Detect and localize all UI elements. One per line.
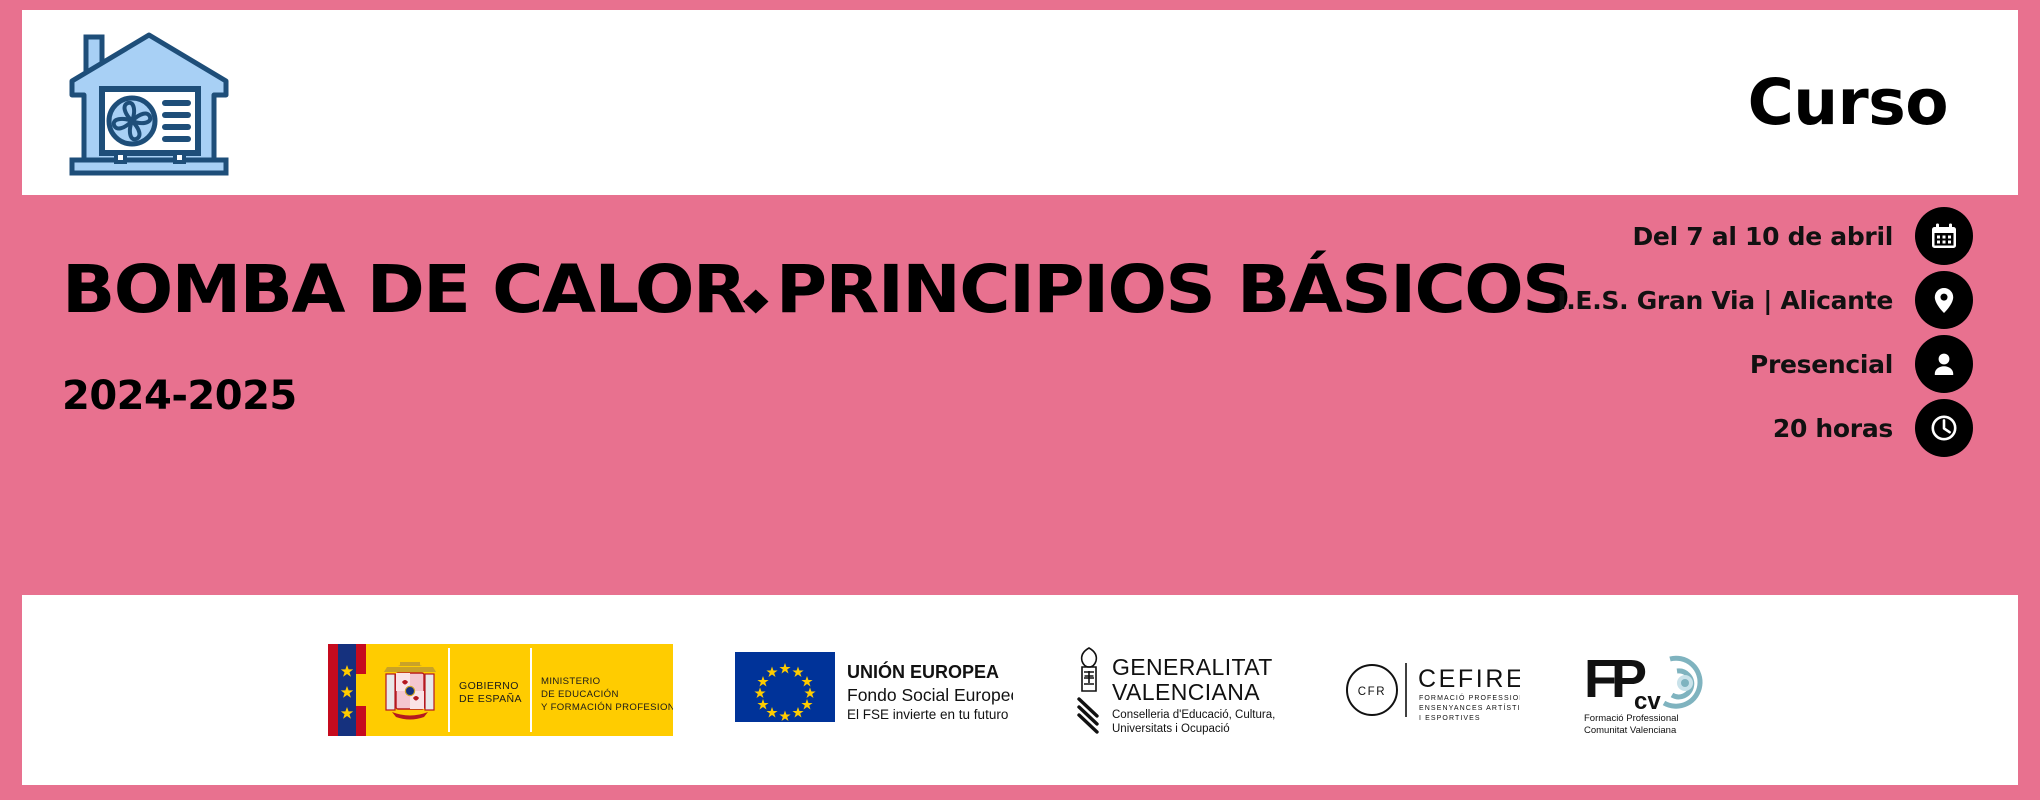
- svg-text:Formació Professional: Formació Professional: [1584, 713, 1679, 724]
- diamond-separator-icon: [744, 289, 769, 313]
- info-label-dates: Del 7 al 10 de abril: [1632, 222, 1893, 251]
- course-year: 2024-2025: [62, 373, 297, 419]
- clock-icon: [1915, 399, 1973, 457]
- course-info-list: Del 7 al 10 de abril: [1557, 207, 1973, 457]
- info-label-location: I.E.S. Gran Via | Alicante: [1557, 286, 1893, 315]
- course-title-part2: PRINCIPIOS BÁSICOS: [776, 251, 1571, 328]
- calendar-icon: [1915, 207, 1973, 265]
- header-band: Curso: [22, 10, 2018, 195]
- svg-text:DE ESPAÑA: DE ESPAÑA: [459, 692, 522, 705]
- svg-text:CEFIRE: CEFIRE: [1418, 665, 1520, 693]
- page-title: BOMBA DE CALORPRINCIPIOS BÁSICOS: [62, 255, 1546, 324]
- svg-text:VALENCIANA: VALENCIANA: [1112, 679, 1260, 705]
- info-label-modality: Presencial: [1750, 350, 1893, 379]
- svg-text:ENSENYANCES ARTÍSTIQUES: ENSENYANCES ARTÍSTIQUES: [1419, 703, 1520, 712]
- svg-text:CFR: CFR: [1358, 686, 1386, 698]
- cefire-logo: CFR CEFIRE FORMACIÓ PROFESSIONAL ENSENYA…: [1342, 653, 1520, 727]
- svg-text:MINISTERIO: MINISTERIO: [541, 676, 600, 687]
- main-band: BOMBA DE CALORPRINCIPIOS BÁSICOS 2024-20…: [22, 195, 2018, 595]
- svg-text:UNIÓN EUROPEA: UNIÓN EUROPEA: [847, 661, 999, 682]
- svg-text:GOBIERNO: GOBIERNO: [459, 680, 519, 692]
- map-pin-icon: [1915, 271, 1973, 329]
- svg-text:Conselleria d'Educació, Cultur: Conselleria d'Educació, Cultura,: [1112, 709, 1275, 721]
- svg-text:Y FORMACIÓN PROFESIONAL: Y FORMACIÓN PROFESIONAL: [541, 702, 673, 713]
- course-poster: Curso BOMBA DE CALORPRINCIPIOS BÁSICOS 2…: [0, 0, 2040, 800]
- svg-text:cv: cv: [1634, 688, 1661, 715]
- gobierno-de-espana-logo: GOBIERNO DE ESPAÑA MINISTERIO DE EDUCACI…: [328, 644, 673, 736]
- generalitat-valenciana-logo: GENERALITAT VALENCIANA Conselleria d'Edu…: [1075, 644, 1280, 736]
- header-kicker: Curso: [1748, 71, 1948, 134]
- course-title-part1: BOMBA DE CALOR: [62, 251, 745, 328]
- info-row-dates: Del 7 al 10 de abril: [1557, 207, 1973, 265]
- info-row-modality: Presencial: [1557, 335, 1973, 393]
- footer-logo-band: GOBIERNO DE ESPAÑA MINISTERIO DE EDUCACI…: [22, 595, 2018, 785]
- title-block: BOMBA DE CALORPRINCIPIOS BÁSICOS: [62, 255, 1462, 324]
- fpcv-logo: FP cv Formació Professional Comunitat Va…: [1582, 645, 1712, 735]
- svg-text:Comunitat Valenciana: Comunitat Valenciana: [1584, 725, 1677, 735]
- info-row-duration: 20 horas: [1557, 399, 1973, 457]
- info-row-location: I.E.S. Gran Via | Alicante: [1557, 271, 1973, 329]
- svg-text:GENERALITAT: GENERALITAT: [1112, 654, 1273, 680]
- heat-pump-house-logo: [64, 23, 234, 183]
- svg-text:Universitats i Ocupació: Universitats i Ocupació: [1112, 723, 1230, 735]
- union-europea-logo: UNIÓN EUROPEA Fondo Social Europeo El FS…: [735, 646, 1013, 734]
- svg-text:I ESPORTIVES: I ESPORTIVES: [1419, 715, 1481, 722]
- info-label-duration: 20 horas: [1773, 414, 1893, 443]
- svg-text:DE EDUCACIÓN: DE EDUCACIÓN: [541, 689, 619, 700]
- svg-text:El FSE invierte en tu futuro: El FSE invierte en tu futuro: [847, 707, 1008, 722]
- svg-text:Fondo Social Europeo: Fondo Social Europeo: [847, 685, 1013, 705]
- person-icon: [1915, 335, 1973, 393]
- svg-text:FORMACIÓ PROFESSIONAL: FORMACIÓ PROFESSIONAL: [1419, 693, 1520, 702]
